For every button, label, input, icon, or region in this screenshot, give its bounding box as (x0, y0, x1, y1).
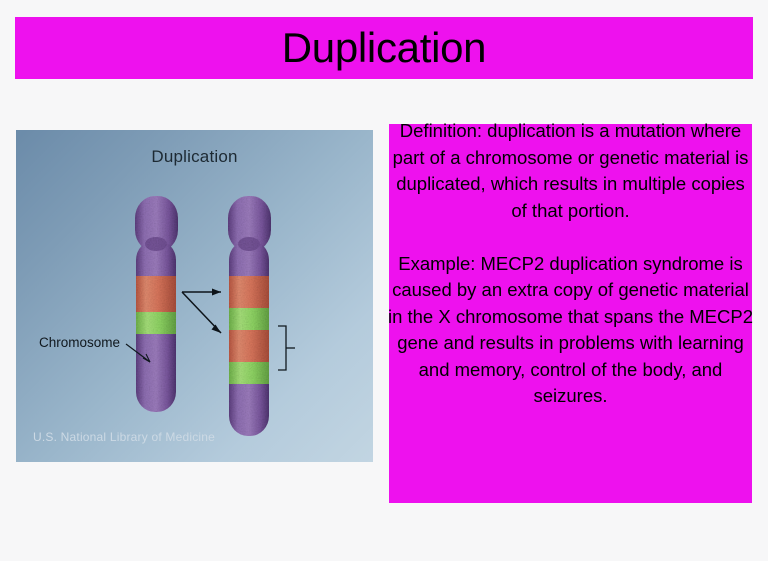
duplication-arrows (182, 289, 221, 334)
chromosome-original (135, 192, 178, 414)
chromosome-illustration (16, 130, 373, 462)
duplication-diagram-image: Duplication (16, 130, 373, 462)
duplicated-region-bracket (278, 326, 295, 370)
example-paragraph: Example: MECP2 duplication syndrome is c… (387, 251, 754, 410)
chromosome-duplicated (228, 192, 271, 438)
label-duplicated-genetic-material: Duplicated Genetic Material (291, 460, 355, 462)
content-text-block: Definition: duplication is a mutation wh… (387, 118, 754, 410)
page-title: Duplication (282, 27, 487, 69)
label-chromosome: Chromosome (39, 335, 120, 350)
content-panel: Definition: duplication is a mutation wh… (389, 124, 752, 503)
definition-paragraph: Definition: duplication is a mutation wh… (387, 118, 754, 224)
label-duplicated-line-1: Duplicated (291, 460, 355, 462)
slide-title-banner: Duplication (15, 17, 753, 79)
figure-credit: U.S. National Library of Medicine (33, 430, 215, 444)
